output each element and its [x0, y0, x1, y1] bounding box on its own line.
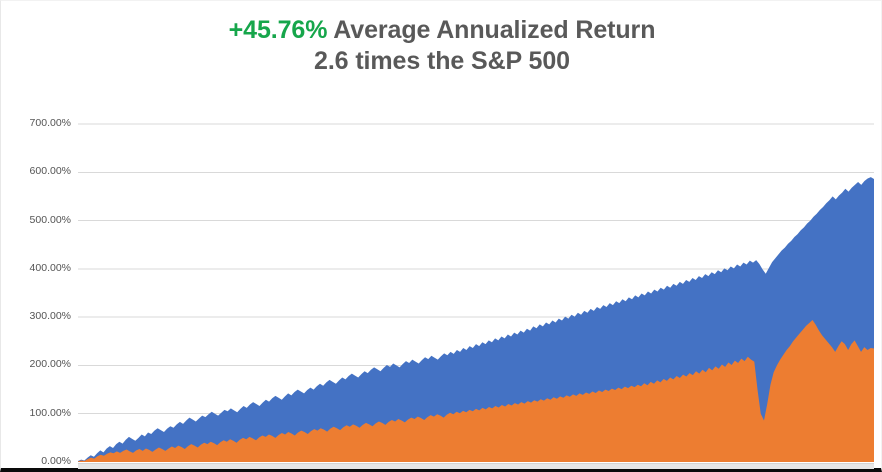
y-tick-label-500: 500.00%	[7, 214, 71, 226]
y-tick-label-200: 200.00%	[7, 358, 71, 370]
plot-area: 0.00%100.00%200.00%300.00%400.00%500.00%…	[1, 1, 882, 469]
y-tick-label-100: 100.00%	[7, 407, 71, 419]
y-tick-label-400: 400.00%	[7, 262, 71, 274]
x-axis-band	[78, 463, 874, 469]
y-tick-label-300: 300.00%	[7, 310, 71, 322]
area-chart-svg	[1, 1, 882, 469]
y-tick-label-600: 600.00%	[7, 165, 71, 177]
y-tick-label-0: 0.00%	[7, 455, 71, 467]
y-tick-label-700: 700.00%	[7, 117, 71, 129]
series-group	[78, 177, 874, 462]
chart-container: +45.76% Average Annualized Return 2.6 ti…	[0, 0, 882, 472]
